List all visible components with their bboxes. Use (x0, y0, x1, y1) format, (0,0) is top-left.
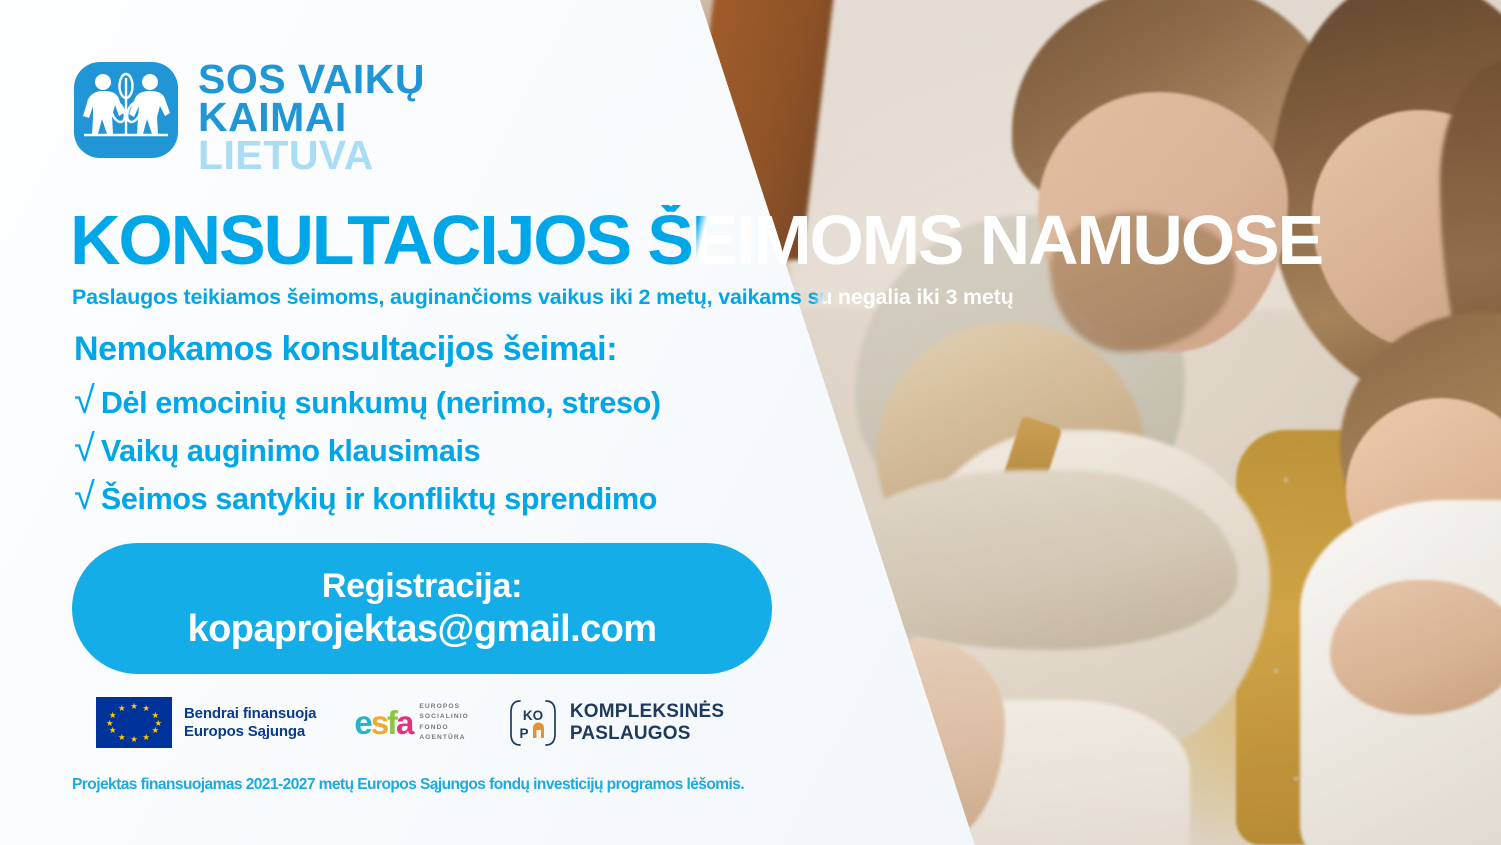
esfa-letter-e: e (354, 704, 370, 741)
offer-heading: Nemokamos konsultacijos šeimai: (74, 330, 617, 369)
checkmark-icon: √ (74, 478, 95, 516)
esfa-wordmark-icon: esfa (354, 706, 412, 739)
kopa-wordmark: KOMPLEKSINĖS PASLAUGOS (570, 701, 724, 745)
brand-logo-wordmark: SOS VAIKŲ KAIMAI LIETUVA (198, 56, 425, 174)
checkmark-icon: √ (74, 430, 95, 468)
eu-funder-line1: Bendrai finansuoja (184, 705, 316, 723)
registration-button[interactable]: Registracija: kopaprojektas@gmail.com (72, 543, 772, 674)
eu-flag-icon: ★ ★ ★ ★ ★ ★ ★ ★ ★ ★ ★ ★ (96, 697, 172, 748)
registration-label: Registracija: (322, 567, 522, 606)
funder-esfa: esfa EUROPOS SOCIALINIO FONDO AGENTŪRA (354, 702, 469, 743)
svg-text:KO: KO (523, 708, 543, 723)
esfa-subtitle-line1: EUROPOS (419, 702, 468, 712)
funder-kopa: KO P KOMPLEKSINĖS PASLAUGOS (507, 698, 724, 748)
funding-disclaimer: Projektas finansuojamas 2021-2027 metų E… (72, 776, 744, 794)
list-item: √ Vaikų auginimo klausimais (74, 430, 834, 468)
eu-funder-line2: Europos Sąjunga (184, 723, 316, 741)
page-title: KONSULTACIJOS ŠEIMOMS NAMUOSE (70, 205, 1470, 276)
offer-item-label: Dėl emocinių sunkumų (nerimo, streso) (101, 387, 661, 420)
kopa-mark-icon: KO P (507, 698, 559, 748)
esfa-subtitle-line2: SOCIALINIO (419, 712, 468, 722)
esfa-letter-s: s (371, 704, 387, 741)
esfa-subtitle: EUROPOS SOCIALINIO FONDO AGENTŪRA (419, 702, 468, 743)
checkmark-icon: √ (74, 382, 95, 420)
sos-childrens-villages-mark-icon (72, 56, 180, 164)
list-item: √ Šeimos santykių ir konfliktų sprendimo (74, 478, 834, 516)
esfa-letter-a: a (396, 704, 412, 741)
offer-list: √ Dėl emocinių sunkumų (nerimo, streso) … (74, 382, 834, 526)
logo-line-kaimai: KAIMAI (198, 98, 425, 136)
logo-line-lietuva: LIETUVA (198, 136, 425, 174)
logo-line-sos-vaiku: SOS VAIKŲ (198, 60, 425, 98)
list-item: √ Dėl emocinių sunkumų (nerimo, streso) (74, 382, 834, 420)
offer-item-label: Vaikų auginimo klausimais (101, 435, 480, 468)
page-subtitle: Paslaugos teikiamos šeimoms, auginančiom… (72, 285, 1472, 310)
kopa-line2: PASLAUGOS (570, 723, 724, 745)
funder-logos: ★ ★ ★ ★ ★ ★ ★ ★ ★ ★ ★ ★ Bendrai finansuo… (96, 697, 724, 748)
poster-content: SOS VAIKŲ KAIMAI LIETUVA KONSULTACIJOS Š… (0, 0, 1501, 845)
esfa-subtitle-line4: AGENTŪRA (419, 733, 468, 743)
offer-item-label: Šeimos santykių ir konfliktų sprendimo (101, 483, 657, 516)
svg-text:P: P (519, 726, 528, 741)
brand-logo: SOS VAIKŲ KAIMAI LIETUVA (72, 56, 425, 174)
esfa-subtitle-line3: FONDO (419, 723, 468, 733)
kopa-line1: KOMPLEKSINĖS (570, 701, 724, 723)
registration-email: kopaprojektas@gmail.com (188, 608, 657, 651)
eu-funder-text: Bendrai finansuoja Europos Sąjunga (184, 705, 316, 741)
esfa-letter-f: f (387, 704, 396, 741)
poster-canvas: SOS VAIKŲ KAIMAI LIETUVA KONSULTACIJOS Š… (0, 0, 1501, 845)
funder-european-union: ★ ★ ★ ★ ★ ★ ★ ★ ★ ★ ★ ★ Bendrai finansuo… (96, 697, 316, 748)
